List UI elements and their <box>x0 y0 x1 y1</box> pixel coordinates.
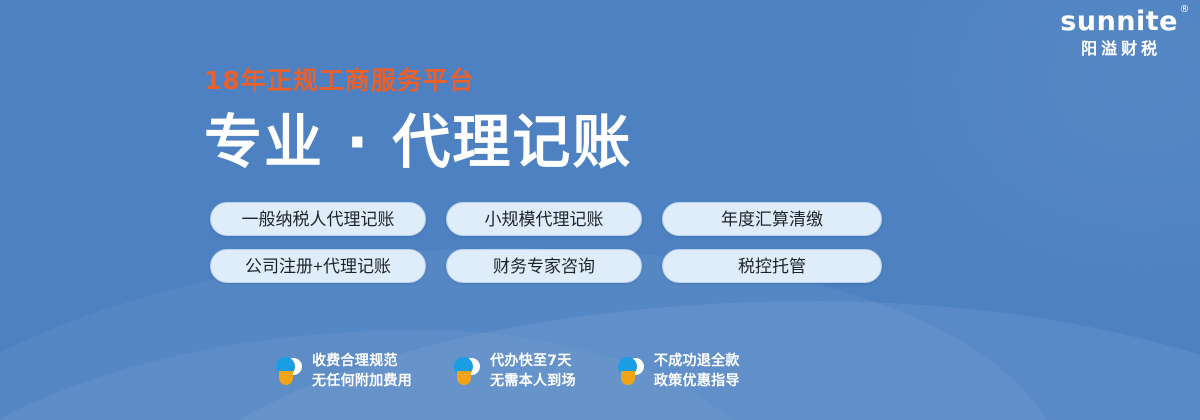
service-pill-finance-expert-consulting[interactable]: 财务专家咨询 <box>446 249 642 283</box>
promo-banner: sunnite® 阳溢财税 18年正规工商服务平台 专业 · 代理记账 一般纳税… <box>0 0 1200 420</box>
blue-yellow-dot-icon <box>454 357 480 387</box>
feature-item-speed: 代办快至7天 无需本人到场 <box>454 352 576 392</box>
feature-strip: 收费合理规范 无任何附加费用 代办快至7天 无需本人到场 不成功退全款 <box>276 352 740 392</box>
feature-line-primary: 不成功退全款 <box>654 352 740 372</box>
icon-yellow-crescent <box>457 371 471 385</box>
brand-logo[interactable]: sunnite® 阳溢财税 <box>1060 8 1178 58</box>
feature-line-primary: 代办快至7天 <box>490 352 576 372</box>
headline-block: 18年正规工商服务平台 专业 · 代理记账 <box>204 68 632 171</box>
feature-text: 不成功退全款 政策优惠指导 <box>654 352 740 392</box>
service-pill-annual-settlement[interactable]: 年度汇算清缴 <box>662 202 882 236</box>
feature-line-primary: 收费合理规范 <box>312 352 412 372</box>
background-wave-lower <box>114 281 1200 420</box>
icon-yellow-crescent <box>621 371 635 385</box>
service-pill-grid: 一般纳税人代理记账 小规模代理记账 年度汇算清缴 公司注册+代理记账 财务专家咨… <box>210 202 882 283</box>
registered-trademark-icon: ® <box>1180 5 1191 15</box>
feature-text: 收费合理规范 无任何附加费用 <box>312 352 412 392</box>
feature-line-secondary: 无需本人到场 <box>490 372 576 392</box>
page-title: 专业 · 代理记账 <box>204 113 632 171</box>
feature-item-guarantee: 不成功退全款 政策优惠指导 <box>618 352 740 392</box>
service-pill-tax-control-hosting[interactable]: 税控托管 <box>662 249 882 283</box>
eyebrow-text: 18年正规工商服务平台 <box>204 68 632 93</box>
blue-yellow-dot-icon <box>618 357 644 387</box>
feature-line-secondary: 无任何附加费用 <box>312 372 412 392</box>
icon-yellow-crescent <box>279 371 293 385</box>
feature-line-secondary: 政策优惠指导 <box>654 372 740 392</box>
logo-chinese-name: 阳溢财税 <box>1060 42 1178 58</box>
service-pill-small-scale-bookkeeping[interactable]: 小规模代理记账 <box>446 202 642 236</box>
service-pill-row: 公司注册+代理记账 财务专家咨询 税控托管 <box>210 249 882 283</box>
service-pill-company-registration-bookkeeping[interactable]: 公司注册+代理记账 <box>210 249 426 283</box>
blue-yellow-dot-icon <box>276 357 302 387</box>
logo-wordmark: sunnite® <box>1060 8 1178 35</box>
service-pill-row: 一般纳税人代理记账 小规模代理记账 年度汇算清缴 <box>210 202 882 236</box>
service-pill-general-taxpayer-bookkeeping[interactable]: 一般纳税人代理记账 <box>210 202 426 236</box>
feature-text: 代办快至7天 无需本人到场 <box>490 352 576 392</box>
feature-item-pricing: 收费合理规范 无任何附加费用 <box>276 352 412 392</box>
